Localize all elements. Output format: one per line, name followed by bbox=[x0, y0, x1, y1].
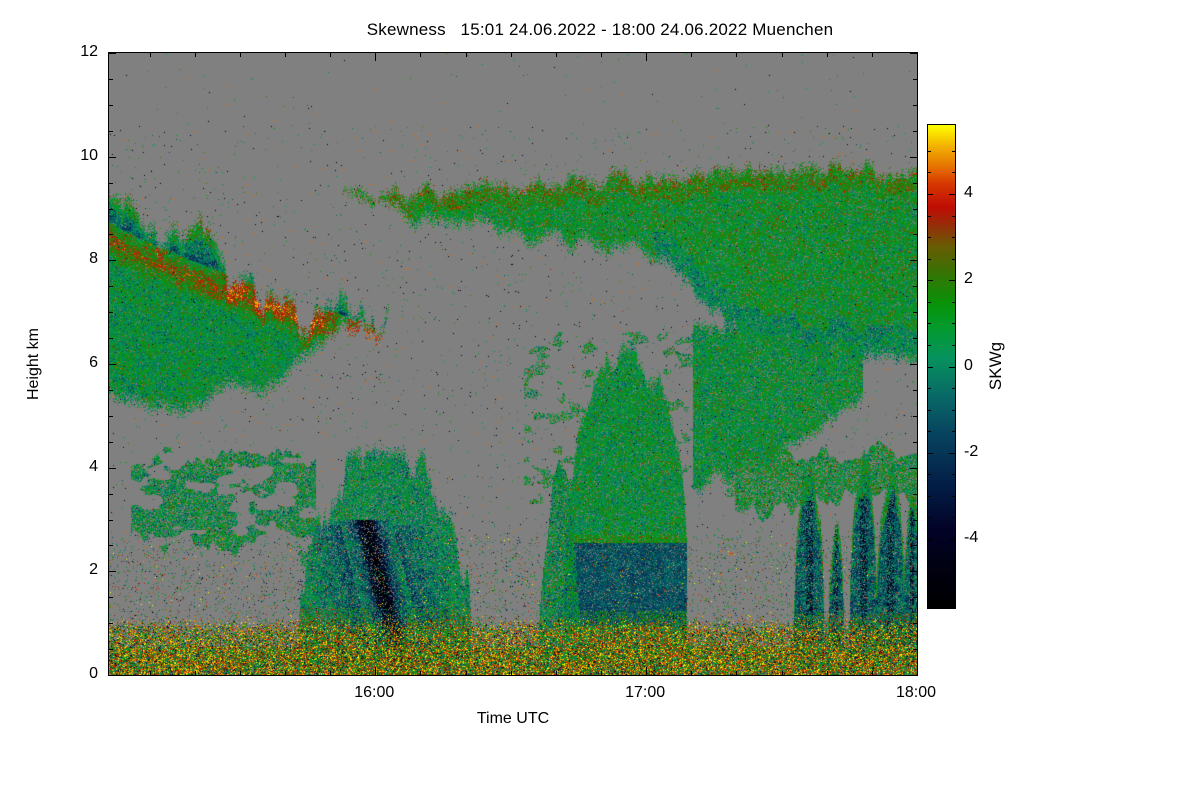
x-axis-title: Time UTC bbox=[477, 710, 549, 728]
y-tick-right bbox=[910, 364, 917, 365]
y-minor-tick-right bbox=[913, 520, 917, 521]
x-minor-tick-top bbox=[782, 53, 783, 57]
colorbar-minor-tick bbox=[952, 323, 955, 324]
y-minor-tick bbox=[109, 597, 113, 598]
colorbar-minor-tick bbox=[952, 517, 955, 518]
colorbar-minor-tick bbox=[952, 410, 955, 411]
y-minor-tick-right bbox=[913, 131, 917, 132]
y-minor-tick bbox=[109, 286, 113, 287]
colorbar-minor-tick-left bbox=[928, 474, 931, 475]
y-tick bbox=[109, 157, 116, 158]
colorbar-minor-tick bbox=[952, 582, 955, 583]
x-minor-tick bbox=[872, 671, 873, 675]
x-tick-top bbox=[917, 53, 918, 61]
y-tick bbox=[109, 571, 116, 572]
y-tick-right bbox=[910, 571, 917, 572]
colorbar-title: SKWg bbox=[986, 342, 1006, 390]
y-tick bbox=[109, 675, 116, 676]
colorbar-minor-tick bbox=[952, 259, 955, 260]
y-minor-tick bbox=[109, 390, 113, 391]
colorbar-tick-label: -2 bbox=[964, 443, 978, 461]
colorbar-tick bbox=[928, 453, 933, 454]
x-minor-tick bbox=[782, 671, 783, 675]
x-minor-tick-top bbox=[511, 53, 512, 57]
colorbar-minor-tick bbox=[952, 561, 955, 562]
y-minor-tick bbox=[109, 79, 113, 80]
colorbar-minor-tick-left bbox=[928, 323, 931, 324]
x-tick-label: 16:00 bbox=[354, 684, 394, 702]
x-minor-tick bbox=[420, 671, 421, 675]
y-tick-right bbox=[910, 53, 917, 54]
y-tick-right bbox=[910, 675, 917, 676]
y-tick-label: 6 bbox=[58, 354, 98, 372]
colorbar-minor-tick-left bbox=[928, 151, 931, 152]
colorbar-minor-tick bbox=[952, 388, 955, 389]
colorbar-tick-label: 0 bbox=[964, 357, 973, 375]
x-minor-tick-top bbox=[195, 53, 196, 57]
y-tick bbox=[109, 53, 116, 54]
colorbar-minor-tick bbox=[952, 216, 955, 217]
y-minor-tick bbox=[109, 623, 113, 624]
x-minor-tick bbox=[511, 671, 512, 675]
y-minor-tick-right bbox=[913, 338, 917, 339]
y-minor-tick-right bbox=[913, 416, 917, 417]
y-minor-tick-right bbox=[913, 390, 917, 391]
colorbar-minor-tick-left bbox=[928, 259, 931, 260]
colorbar-tick-label: 4 bbox=[964, 184, 973, 202]
colorbar-tick bbox=[928, 194, 933, 195]
colorbar-minor-tick-left bbox=[928, 345, 931, 346]
colorbar-minor-tick-left bbox=[928, 237, 931, 238]
colorbar[interactable] bbox=[927, 124, 956, 609]
x-minor-tick bbox=[240, 671, 241, 675]
y-minor-tick bbox=[109, 312, 113, 313]
colorbar-minor-tick bbox=[952, 151, 955, 152]
colorbar-minor-tick bbox=[952, 237, 955, 238]
colorbar-minor-tick bbox=[952, 345, 955, 346]
y-tick bbox=[109, 260, 116, 261]
colorbar-minor-tick-left bbox=[928, 561, 931, 562]
y-minor-tick bbox=[109, 416, 113, 417]
x-tick-top bbox=[375, 53, 376, 61]
y-tick-right bbox=[910, 157, 917, 158]
colorbar-minor-tick-left bbox=[928, 496, 931, 497]
x-minor-tick bbox=[691, 671, 692, 675]
x-minor-tick-top bbox=[556, 53, 557, 57]
x-minor-tick-top bbox=[150, 53, 151, 57]
y-minor-tick-right bbox=[913, 79, 917, 80]
y-minor-tick bbox=[109, 442, 113, 443]
colorbar-tick-right bbox=[949, 280, 955, 281]
x-minor-tick-top bbox=[330, 53, 331, 57]
colorbar-minor-tick-left bbox=[928, 302, 931, 303]
colorbar-minor-tick bbox=[952, 431, 955, 432]
x-minor-tick bbox=[466, 671, 467, 675]
y-minor-tick bbox=[109, 494, 113, 495]
y-minor-tick bbox=[109, 545, 113, 546]
colorbar-tick-right bbox=[949, 453, 955, 454]
x-tick bbox=[375, 667, 376, 675]
y-minor-tick bbox=[109, 209, 113, 210]
y-minor-tick bbox=[109, 520, 113, 521]
colorbar-minor-tick-left bbox=[928, 410, 931, 411]
y-minor-tick-right bbox=[913, 105, 917, 106]
y-tick-right bbox=[910, 260, 917, 261]
colorbar-minor-tick-left bbox=[928, 172, 931, 173]
colorbar-tick-right bbox=[949, 367, 955, 368]
y-minor-tick bbox=[109, 183, 113, 184]
y-tick-label: 2 bbox=[58, 561, 98, 579]
y-minor-tick-right bbox=[913, 442, 917, 443]
y-tick-label: 12 bbox=[58, 43, 98, 61]
x-minor-tick-top bbox=[466, 53, 467, 57]
y-tick-label: 4 bbox=[58, 458, 98, 476]
y-minor-tick-right bbox=[913, 234, 917, 235]
y-tick-right bbox=[910, 468, 917, 469]
y-minor-tick-right bbox=[913, 545, 917, 546]
x-minor-tick bbox=[195, 671, 196, 675]
colorbar-tick-right bbox=[949, 539, 955, 540]
x-tick-label: 17:00 bbox=[625, 684, 665, 702]
x-minor-tick bbox=[330, 671, 331, 675]
y-tick bbox=[109, 468, 116, 469]
x-tick bbox=[646, 667, 647, 675]
x-minor-tick bbox=[601, 671, 602, 675]
y-tick-label: 10 bbox=[58, 147, 98, 165]
x-minor-tick-top bbox=[285, 53, 286, 57]
colorbar-minor-tick bbox=[952, 496, 955, 497]
x-minor-tick-top bbox=[601, 53, 602, 57]
x-minor-tick-top bbox=[736, 53, 737, 57]
y-minor-tick-right bbox=[913, 312, 917, 313]
x-minor-tick bbox=[827, 671, 828, 675]
y-axis-title: Height km bbox=[25, 328, 43, 400]
y-minor-tick bbox=[109, 105, 113, 106]
y-minor-tick-right bbox=[913, 649, 917, 650]
colorbar-tick bbox=[928, 539, 933, 540]
colorbar-minor-tick-left bbox=[928, 582, 931, 583]
colorbar-minor-tick-left bbox=[928, 517, 931, 518]
x-tick-top bbox=[646, 53, 647, 61]
plot-area[interactable] bbox=[108, 52, 918, 676]
colorbar-minor-tick-left bbox=[928, 388, 931, 389]
y-minor-tick bbox=[109, 338, 113, 339]
x-minor-tick bbox=[556, 671, 557, 675]
heatmap-canvas[interactable] bbox=[109, 53, 917, 675]
y-minor-tick bbox=[109, 649, 113, 650]
colorbar-minor-tick bbox=[952, 172, 955, 173]
y-minor-tick-right bbox=[913, 286, 917, 287]
colorbar-tick-label: -4 bbox=[964, 529, 978, 547]
y-tick-label: 0 bbox=[58, 665, 98, 683]
x-minor-tick bbox=[736, 671, 737, 675]
x-minor-tick-top bbox=[240, 53, 241, 57]
x-minor-tick-top bbox=[420, 53, 421, 57]
colorbar-tick-right bbox=[949, 194, 955, 195]
y-minor-tick-right bbox=[913, 494, 917, 495]
figure-root: Skewness 15:01 24.06.2022 - 18:00 24.06.… bbox=[0, 0, 1200, 800]
colorbar-tick bbox=[928, 367, 933, 368]
y-minor-tick-right bbox=[913, 183, 917, 184]
y-tick-label: 8 bbox=[58, 250, 98, 268]
colorbar-minor-tick-left bbox=[928, 431, 931, 432]
colorbar-minor-tick bbox=[952, 474, 955, 475]
colorbar-minor-tick-left bbox=[928, 216, 931, 217]
x-tick-label: 18:00 bbox=[896, 684, 936, 702]
x-tick bbox=[917, 667, 918, 675]
y-minor-tick bbox=[109, 131, 113, 132]
x-minor-tick-top bbox=[691, 53, 692, 57]
y-minor-tick-right bbox=[913, 597, 917, 598]
x-minor-tick-top bbox=[827, 53, 828, 57]
y-minor-tick-right bbox=[913, 209, 917, 210]
x-minor-tick bbox=[285, 671, 286, 675]
x-minor-tick-top bbox=[872, 53, 873, 57]
colorbar-tick-label: 2 bbox=[964, 270, 973, 288]
colorbar-tick bbox=[928, 280, 933, 281]
colorbar-minor-tick bbox=[952, 302, 955, 303]
page-title: Skewness 15:01 24.06.2022 - 18:00 24.06.… bbox=[0, 20, 1200, 40]
x-minor-tick bbox=[150, 671, 151, 675]
y-minor-tick-right bbox=[913, 623, 917, 624]
y-tick bbox=[109, 364, 116, 365]
y-minor-tick bbox=[109, 234, 113, 235]
